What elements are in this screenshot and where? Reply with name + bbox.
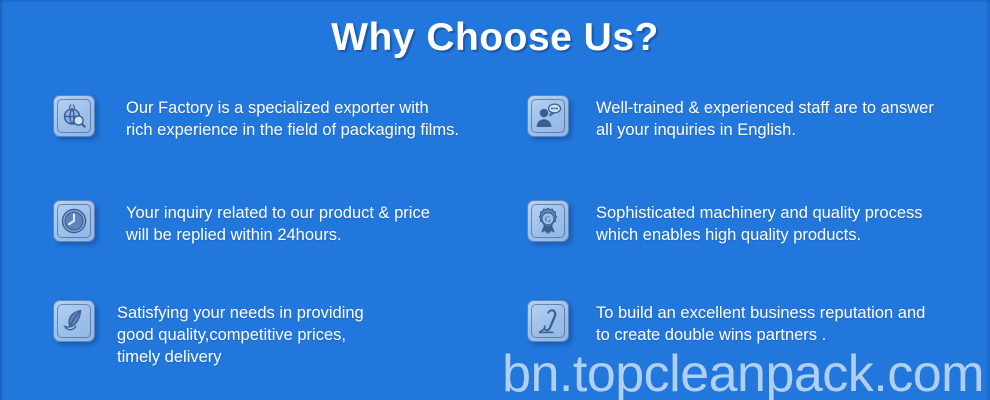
- feature-item-inquiry-reply-time: Your inquiry related to our product & pr…: [53, 200, 430, 246]
- banner-right-edge-shade: [986, 0, 990, 400]
- feature-text: Your inquiry related to our product & pr…: [126, 202, 430, 246]
- feature-item-business-reputation: To build an excellent business reputatio…: [527, 300, 925, 346]
- svg-text:G: G: [545, 214, 551, 224]
- feature-item-factory-exporter: Our Factory is a specialized exporter wi…: [53, 95, 459, 141]
- feature-text: Sophisticated machinery and quality proc…: [596, 202, 923, 246]
- globe-magnifier-icon: [53, 95, 95, 137]
- telephone-icon: [527, 300, 569, 342]
- feature-text: Our Factory is a specialized exporter wi…: [126, 97, 459, 141]
- feature-item-quality-price-delivery: Satisfying your needs in providing good …: [53, 300, 364, 368]
- banner-top-edge-shade: [0, 0, 990, 3]
- feature-item-machinery-quality: G Sophisticated machinery and quality pr…: [527, 200, 923, 246]
- feature-text: To build an excellent business reputatio…: [596, 302, 925, 346]
- award-ribbon-icon: G: [527, 200, 569, 242]
- feature-text: Satisfying your needs in providing good …: [117, 302, 364, 368]
- feature-item-staff-english: Well-trained & experienced staff are to …: [527, 95, 934, 141]
- clock-icon: [53, 200, 95, 242]
- leaf-feather-icon: [53, 300, 95, 342]
- person-speech-bubble-icon: [527, 95, 569, 137]
- banner-left-edge-shade: [0, 0, 4, 400]
- why-choose-us-banner: Why Choose Us? Our Factory is a speciali…: [0, 0, 990, 400]
- page-title: Why Choose Us?: [0, 16, 990, 60]
- feature-text: Well-trained & experienced staff are to …: [596, 97, 934, 141]
